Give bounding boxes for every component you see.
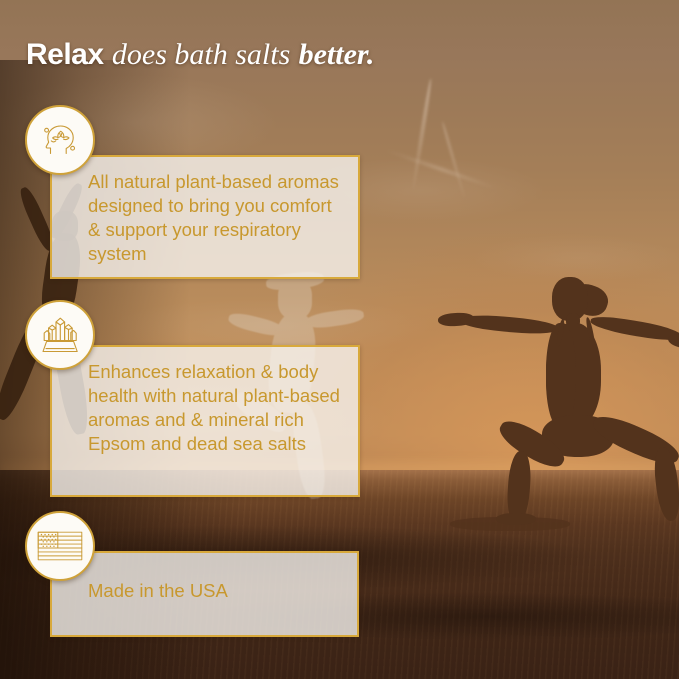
feature-panel-3-text: Made in the USA bbox=[52, 553, 357, 616]
feature-icon-badge-1 bbox=[25, 105, 95, 175]
feature-panel-1-text: All natural plant-based aromas designed … bbox=[52, 157, 358, 279]
feature-panel-2-text: Enhances relaxation & body health with n… bbox=[52, 347, 358, 469]
feature-panel-3: Made in the USA bbox=[50, 551, 359, 637]
feature-panel-2: Enhances relaxation & body health with n… bbox=[50, 345, 360, 497]
headline-brand: Relax bbox=[26, 38, 104, 71]
headline-middle: does bath salts bbox=[112, 38, 290, 71]
headline-emphasis: better. bbox=[299, 38, 375, 71]
headline: Relax does bath salts better. bbox=[26, 38, 374, 72]
yoga-warrior-pose-woman bbox=[430, 255, 679, 520]
feature-panel-1: All natural plant-based aromas designed … bbox=[50, 155, 360, 279]
product-feature-graphic: Relax does bath salts better. All natura… bbox=[0, 0, 679, 679]
feature-icon-badge-2 bbox=[25, 300, 95, 370]
usa-flag-icon bbox=[37, 531, 83, 561]
head-lotus-mindfulness-icon bbox=[37, 117, 83, 163]
salt-crystal-cluster-icon bbox=[37, 313, 83, 357]
feature-icon-badge-3 bbox=[25, 511, 95, 581]
